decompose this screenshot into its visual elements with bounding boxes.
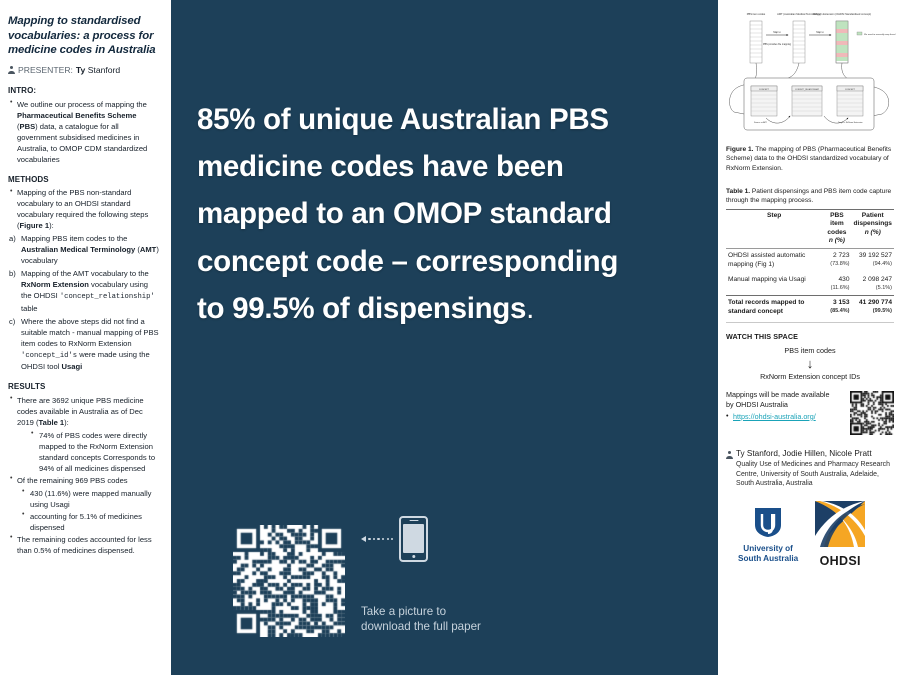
cell-codes: 430(11.6%) bbox=[822, 273, 851, 296]
left-text-column: Mapping to standardised vocabularies: a … bbox=[0, 0, 167, 675]
results-list-2: Of the remaining 969 PBS codes bbox=[8, 475, 159, 486]
results-sublist-2: 430 (11.6%) were mapped manually using U… bbox=[8, 488, 159, 533]
table-header: Step PBS item codes n (%) Patient dispen… bbox=[726, 209, 894, 248]
logo-row: University of South Australia OHDSI bbox=[726, 500, 894, 570]
mapping-flow: PBS item codes ↓ RxNorm Extension concep… bbox=[726, 346, 894, 382]
figure-table-3-label: CONCEPT bbox=[845, 89, 856, 91]
cell-codes: 2 723(73.8%) bbox=[822, 249, 851, 273]
unisa-label: University of South Australia bbox=[738, 544, 798, 564]
cell-dispensings: 2 098 247(5.1%) bbox=[852, 273, 895, 296]
headline-panel: 85% of unique Australian PBS medicine co… bbox=[171, 0, 718, 675]
ohdsi-mark-icon bbox=[814, 500, 866, 548]
headline-line: to 99.5% of dispensings. bbox=[197, 285, 696, 332]
results-list: There are 3692 unique PBS medicine codes… bbox=[8, 395, 159, 428]
cell-dispensings: 39 192 527(94.4%) bbox=[852, 249, 895, 273]
cell-dispensings: 41 290 774(99.5%) bbox=[852, 296, 895, 320]
list-item: Of the remaining 969 PBS codes bbox=[8, 475, 159, 486]
figure-1-caption: Figure 1. The mapping of PBS (Pharmaceut… bbox=[726, 145, 894, 173]
headline-text: 85% of unique Australian PBS medicine co… bbox=[197, 96, 696, 332]
figure-1-diagram: PBS item codes AMT (Australian Medical T… bbox=[726, 4, 894, 142]
ohdsi-logo: OHDSI bbox=[814, 500, 866, 570]
phone-icon bbox=[399, 516, 428, 562]
flow-top-label: PBS item codes bbox=[726, 346, 894, 356]
presenter-line: PRESENTER: Ty Stanford bbox=[8, 64, 159, 76]
figure-note-1: PBS provides file mapping bbox=[763, 43, 792, 46]
phone-illustration bbox=[361, 516, 481, 604]
table-bottom-rule bbox=[726, 322, 894, 323]
intro-heading: INTRO: bbox=[8, 85, 159, 97]
availability-block: Mappings will be made available by OHDSI… bbox=[726, 390, 894, 435]
table-row-total: Total records mapped to standard concept… bbox=[726, 296, 894, 320]
figure-table-2-label: CONCEPT_RELATIONSHIP bbox=[795, 88, 820, 91]
list-item: The remaining codes accounted for less t… bbox=[8, 534, 159, 556]
qr-code-main[interactable] bbox=[233, 525, 345, 637]
poster-root: Mapping to standardised vocabularies: a … bbox=[0, 0, 900, 675]
list-item: Mapping PBS item codes to the Australian… bbox=[8, 233, 159, 266]
results-table: Step PBS item codes n (%) Patient dispen… bbox=[726, 209, 894, 320]
cell-step: Manual mapping via Usagi bbox=[726, 273, 822, 296]
author-names: Ty Stanford, Jodie Hillen, Nicole Pratt bbox=[736, 449, 894, 460]
figure-table-1-label: CONCEPT bbox=[759, 89, 770, 91]
author-block: Ty Stanford, Jodie Hillen, Nicole Pratt … bbox=[726, 449, 894, 489]
presenter-label: PRESENTER: bbox=[18, 64, 73, 76]
figure-sub-2: Target = RxNorm Extension bbox=[838, 121, 863, 124]
availability-text: Mappings will be made available by OHDSI… bbox=[726, 390, 846, 422]
headline-line: 85% of unique Australian PBS bbox=[197, 96, 696, 143]
qr-phone-group: Take a picture to download the full pape… bbox=[361, 516, 481, 637]
headline-line: concept code – corresponding bbox=[197, 238, 696, 285]
figure-node-1-label: PBS item codes bbox=[747, 12, 766, 16]
section-results: RESULTS There are 3692 unique PBS medici… bbox=[8, 381, 159, 556]
methods-heading: METHODS bbox=[8, 174, 159, 186]
results-sublist-1: 74% of PBS codes were directly mapped to… bbox=[8, 430, 159, 474]
presenter-name: Ty Stanford bbox=[76, 64, 120, 76]
figure-node-3-label: RxNorm Extension (OHDSI Standardised con… bbox=[813, 12, 871, 16]
ohdsi-australia-link[interactable]: https://ohdsi-australia.org/ bbox=[726, 412, 846, 422]
table-1-caption: Table 1. Patient dispensings and PBS ite… bbox=[726, 187, 894, 206]
cell-codes: 3 153(85.4%) bbox=[822, 296, 851, 320]
right-detail-column: PBS item codes AMT (Australian Medical T… bbox=[718, 0, 900, 675]
page-title: Mapping to standardised vocabularies: a … bbox=[8, 14, 159, 58]
list-item: 430 (11.6%) were mapped manually using U… bbox=[20, 488, 159, 510]
figure-note-2: We need to manually map these! bbox=[864, 33, 896, 36]
figure-edge-1-label: Map to bbox=[773, 31, 781, 34]
headline-line: mapped to an OMOP standard bbox=[197, 190, 696, 237]
results-heading: RESULTS bbox=[8, 381, 159, 393]
figure-edge-2-label: Map to bbox=[816, 31, 824, 34]
list-item: accounting for 5.1% of medicines dispens… bbox=[20, 511, 159, 533]
person-icon bbox=[8, 66, 15, 75]
qr-code-secondary[interactable] bbox=[850, 391, 894, 435]
ohdsi-label: OHDSI bbox=[814, 553, 866, 571]
section-intro: INTRO: We outline our process of mapping… bbox=[8, 85, 159, 165]
unisa-shield-icon bbox=[753, 506, 783, 538]
methods-steps: Mapping PBS item codes to the Australian… bbox=[8, 233, 159, 372]
methods-list: Mapping of the PBS non-standard vocabula… bbox=[8, 187, 159, 231]
headline-line: medicine codes have been bbox=[197, 143, 696, 190]
section-methods: METHODS Mapping of the PBS non-standard … bbox=[8, 174, 159, 372]
results-list-3: The remaining codes accounted for less t… bbox=[8, 534, 159, 556]
person-icon bbox=[726, 451, 733, 460]
cell-step: Total records mapped to standard concept bbox=[726, 296, 822, 320]
qr-scan-area: Take a picture to download the full pape… bbox=[233, 516, 481, 637]
scan-arrow-icon bbox=[361, 536, 393, 542]
author-affiliation: Quality Use of Medicines and Pharmacy Re… bbox=[736, 460, 894, 489]
list-item: There are 3692 unique PBS medicine codes… bbox=[8, 395, 159, 428]
table-body: OHDSI assisted automatic mapping (Fig 1)… bbox=[726, 249, 894, 320]
cell-step: OHDSI assisted automatic mapping (Fig 1) bbox=[726, 249, 822, 273]
list-item: 74% of PBS codes were directly mapped to… bbox=[29, 430, 159, 474]
figure-sub-1: Source = AMT bbox=[754, 121, 768, 124]
unisa-logo: University of South Australia bbox=[738, 506, 798, 563]
col-step: Step bbox=[726, 209, 822, 248]
qr-caption: Take a picture to download the full pape… bbox=[361, 604, 481, 637]
down-arrow-icon: ↓ bbox=[726, 357, 894, 371]
list-item: Where the above steps did not find a sui… bbox=[8, 316, 159, 372]
col-dispensings: Patient dispensings n (%) bbox=[852, 209, 895, 248]
figure-1-svg: PBS item codes AMT (Australian Medical T… bbox=[726, 4, 896, 142]
table-row: Manual mapping via Usagi 430(11.6%) 2 09… bbox=[726, 273, 894, 296]
intro-list: We outline our process of mapping the Ph… bbox=[8, 99, 159, 165]
col-pbs-codes: PBS item codes n (%) bbox=[822, 209, 851, 248]
list-item: We outline our process of mapping the Ph… bbox=[8, 99, 159, 165]
watch-this-space-heading: WATCH THIS SPACE bbox=[726, 332, 894, 342]
flow-bottom-label: RxNorm Extension concept IDs bbox=[726, 372, 894, 382]
list-item: Mapping of the PBS non-standard vocabula… bbox=[8, 187, 159, 231]
table-header-row: Step PBS item codes n (%) Patient dispen… bbox=[726, 209, 894, 248]
list-item: Mapping of the AMT vocabulary to the RxN… bbox=[8, 268, 159, 313]
table-row: OHDSI assisted automatic mapping (Fig 1)… bbox=[726, 249, 894, 273]
